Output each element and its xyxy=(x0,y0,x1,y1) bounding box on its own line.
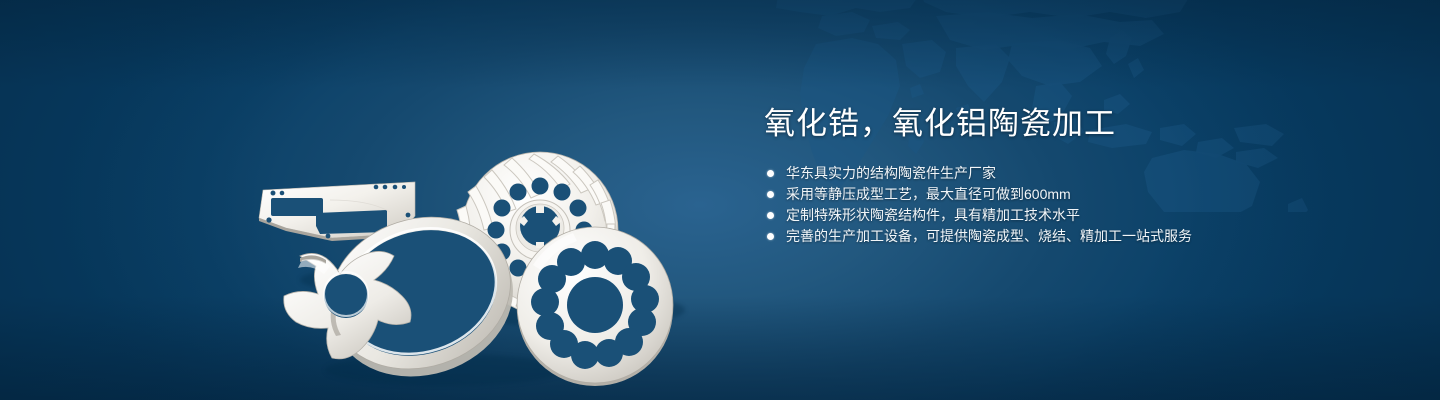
bullet-icon xyxy=(767,233,774,240)
list-item: 华东具实力的结构陶瓷件生产厂家 xyxy=(764,163,1384,184)
feature-text: 定制特殊形状陶瓷结构件，具有精加工技术水平 xyxy=(786,207,1080,223)
ceramic-perforated-disc xyxy=(517,227,673,386)
list-item: 完善的生产加工设备，可提供陶瓷成型、烧结、精加工一站式服务 xyxy=(764,226,1384,247)
list-item: 定制特殊形状陶瓷结构件，具有精加工技术水平 xyxy=(764,205,1384,226)
ceramic-mounting-plate xyxy=(259,90,418,241)
list-item: 采用等静压成型工艺，最大直径可做到600mm xyxy=(764,184,1384,205)
promo-banner: 氧化锆，氧化铝陶瓷加工 华东具实力的结构陶瓷件生产厂家 采用等静压成型工艺，最大… xyxy=(0,0,1440,400)
ceramic-products-image xyxy=(230,40,700,385)
feature-text: 采用等静压成型工艺，最大直径可做到600mm xyxy=(786,186,1071,202)
bullet-icon xyxy=(767,170,774,177)
bullet-icon xyxy=(767,191,774,198)
bullet-icon xyxy=(767,212,774,219)
feature-text: 完善的生产加工设备，可提供陶瓷成型、烧结、精加工一站式服务 xyxy=(786,228,1192,244)
feature-text: 华东具实力的结构陶瓷件生产厂家 xyxy=(786,165,996,181)
banner-copy: 氧化锆，氧化铝陶瓷加工 华东具实力的结构陶瓷件生产厂家 采用等静压成型工艺，最大… xyxy=(764,108,1384,247)
page-title: 氧化锆，氧化铝陶瓷加工 xyxy=(764,108,1384,139)
feature-list: 华东具实力的结构陶瓷件生产厂家 采用等静压成型工艺，最大直径可做到600mm 定… xyxy=(764,163,1384,247)
